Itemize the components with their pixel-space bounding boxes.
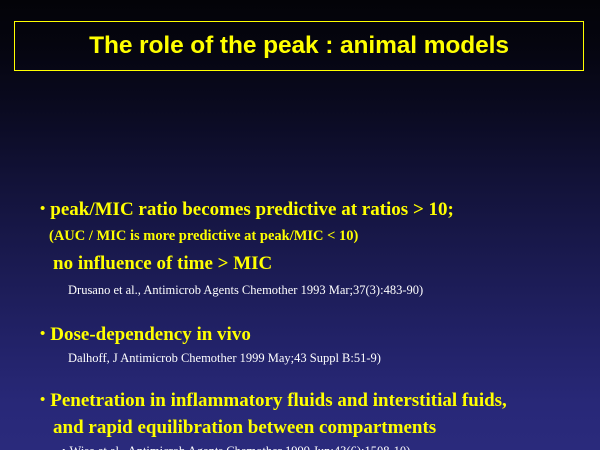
- subline-auc-mic: (AUC / MIC is more predictive at peak/MI…: [49, 229, 358, 244]
- bullet-glyph-icon: •: [40, 392, 45, 408]
- bullet-glyph-icon: •: [40, 201, 45, 217]
- slide-canvas: The role of the peak : animal models •pe…: [0, 0, 600, 450]
- reference-drusano: Drusano et al., Antimicrob Agents Chemot…: [68, 284, 423, 297]
- bullet-label-peak-mic-ratio: peak/MIC ratio becomes predictive at rat…: [50, 199, 454, 220]
- bullet-item-dose-dependency: •Dose-dependency in vivo: [40, 325, 251, 344]
- bullet-item-peak-mic-ratio: •peak/MIC ratio becomes predictive at ra…: [40, 200, 454, 219]
- bullet-label-penetration-line2: and rapid equilibration between compartm…: [53, 418, 436, 437]
- page-title: The role of the peak : animal models: [89, 32, 509, 60]
- reference-wise-label: Wise et al., Antimicrob Agents Chemother…: [70, 444, 411, 450]
- slide-body: •peak/MIC ratio becomes predictive at ra…: [0, 95, 600, 450]
- title-box: The role of the peak : animal models: [14, 21, 584, 71]
- bullet-glyph-icon: •: [40, 326, 45, 342]
- bullet-label-dose-dependency: Dose-dependency in vivo: [50, 324, 251, 345]
- subline-no-influence-of-time: no influence of time > MIC: [53, 254, 272, 273]
- bullet-glyph-icon: •: [62, 446, 66, 450]
- reference-wise: •Wise et al., Antimicrob Agents Chemothe…: [62, 445, 410, 450]
- reference-dalhoff: Dalhoff, J Antimicrob Chemother 1999 May…: [68, 352, 381, 365]
- bullet-label-penetration: Penetration in inflammatory fluids and i…: [50, 390, 507, 411]
- bullet-item-penetration: •Penetration in inflammatory fluids and …: [40, 391, 507, 410]
